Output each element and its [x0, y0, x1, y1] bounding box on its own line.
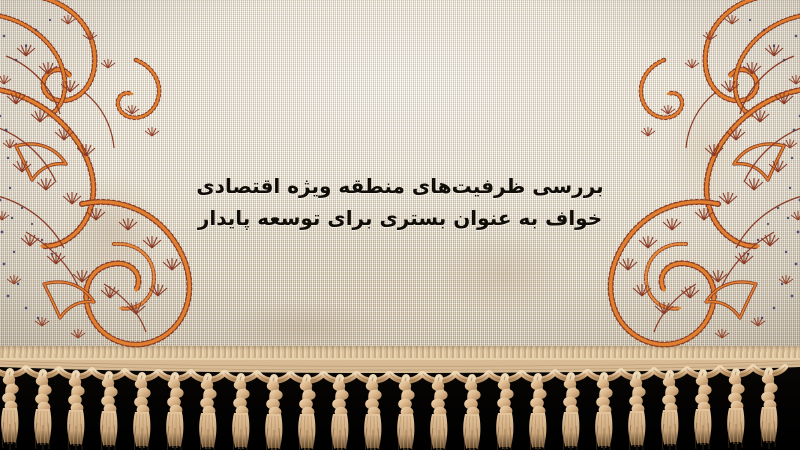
dark-backdrop: [0, 366, 800, 450]
title-line-2: خواف به عنوان بستری برای توسعه پایدار: [0, 202, 800, 234]
slide-title: بررسی ظرفیت‌های منطقه ویژه اقتصادی خواف …: [0, 170, 800, 234]
presentation-slide: بررسی ظرفیت‌های منطقه ویژه اقتصادی خواف …: [0, 0, 800, 450]
title-line-1: بررسی ظرفیت‌های منطقه ویژه اقتصادی: [0, 170, 800, 202]
